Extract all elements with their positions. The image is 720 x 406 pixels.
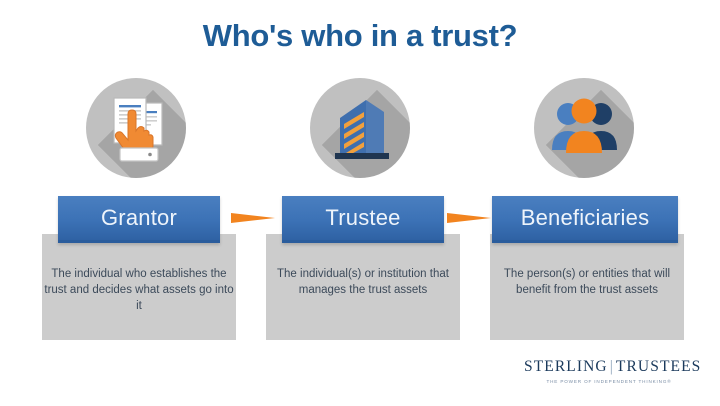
icon-wrap-grantor (86, 78, 186, 178)
logo-tagline: THE POWER OF INDEPENDENT THINKING® (524, 379, 694, 384)
page-title: Who's who in a trust? (0, 18, 720, 54)
role-description-beneficiaries: The person(s) or entities that will bene… (490, 266, 684, 298)
people-group-icon (534, 78, 634, 178)
role-column-beneficiaries (484, 78, 684, 178)
arrow-trustee-to-beneficiaries-icon (447, 206, 493, 230)
role-description-trustee: The individual(s) or institution that ma… (266, 266, 460, 298)
arrow-grantor-to-trustee-icon (231, 206, 277, 230)
icon-wrap-beneficiaries (534, 78, 634, 178)
logo-word-sterling: STERLING (524, 358, 608, 375)
role-description-grantor: The individual who establishes the trust… (42, 266, 236, 314)
role-label-grantor: Grantor (58, 196, 220, 243)
logo-divider: | (608, 358, 616, 375)
logo-wordmark: STERLING|TRUSTEES (524, 358, 694, 376)
role-column-trustee (260, 78, 460, 178)
role-label-beneficiaries: Beneficiaries (492, 196, 678, 243)
infographic-slide: Who's who in a trust? (0, 0, 720, 406)
documents-hand-icon (86, 78, 186, 178)
role-label-trustee: Trustee (282, 196, 444, 243)
building-icon (310, 78, 410, 178)
brand-logo: STERLING|TRUSTEES THE POWER OF INDEPENDE… (524, 358, 694, 384)
role-column-grantor (36, 78, 236, 178)
logo-word-trustees: TRUSTEES (616, 358, 701, 375)
icon-wrap-trustee (310, 78, 410, 178)
